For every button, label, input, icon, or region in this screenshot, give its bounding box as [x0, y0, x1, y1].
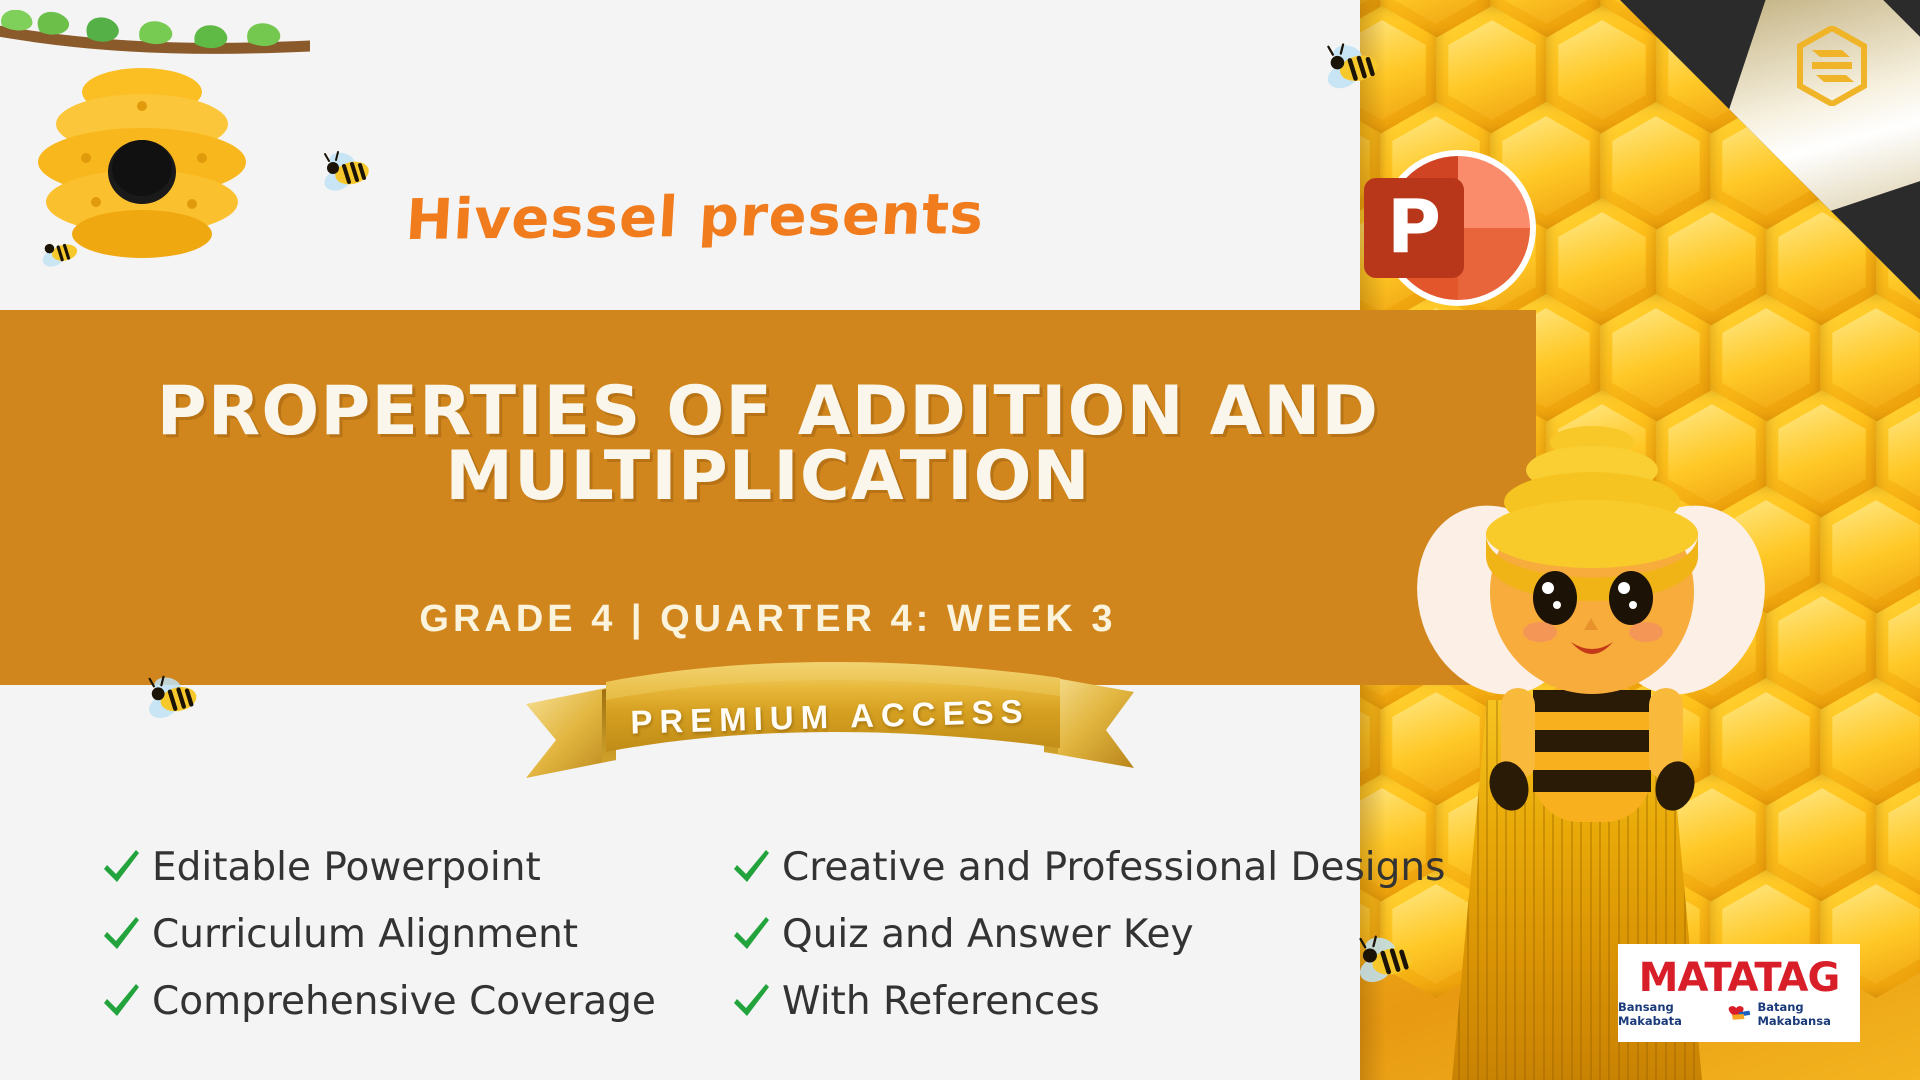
bee-mascot-icon	[1405, 330, 1775, 830]
features-list: Editable Powerpoint Curriculum Alignment…	[100, 845, 1480, 1024]
check-icon	[730, 847, 772, 889]
check-icon	[730, 914, 772, 956]
bee-icon	[316, 148, 374, 194]
poster-canvas: P Hivessel presents PROPERTIES OF ADDITI…	[0, 0, 1920, 1080]
feature-label: Creative and Professional Designs	[782, 845, 1445, 890]
matatag-wordmark: MATATAG	[1639, 958, 1840, 998]
matatag-tagline-right: Batang Makabansa	[1757, 1000, 1860, 1028]
bee-icon	[36, 232, 82, 270]
powerpoint-letter: P	[1387, 184, 1441, 270]
page-subtitle: GRADE 4 | QUARTER 4: WEEK 3	[0, 598, 1536, 641]
feature-label: Comprehensive Coverage	[152, 979, 656, 1024]
feature-item: Editable Powerpoint	[100, 845, 660, 890]
feature-label: Curriculum Alignment	[152, 912, 578, 957]
matatag-tagline-left: Bansang Makabata	[1618, 1000, 1721, 1028]
feature-item: Comprehensive Coverage	[100, 979, 660, 1024]
bee-icon	[1318, 40, 1384, 92]
brand-presents-label: Hivessel presents	[404, 182, 986, 253]
brand-presents-text: Hivessel presents	[0, 178, 1392, 258]
bee-icon	[140, 672, 202, 722]
page-title: PROPERTIES OF ADDITION AND MULTIPLICATIO…	[0, 380, 1536, 509]
check-icon	[730, 981, 772, 1023]
feature-label: With References	[782, 979, 1100, 1024]
feature-label: Quiz and Answer Key	[782, 912, 1194, 957]
premium-ribbon: PREMIUM ACCESS	[520, 652, 1140, 787]
feature-item: Quiz and Answer Key	[730, 912, 1445, 957]
feature-item: With References	[730, 979, 1445, 1024]
features-column-right: Creative and Professional Designs Quiz a…	[730, 845, 1445, 1024]
feature-item: Curriculum Alignment	[100, 912, 660, 957]
heart-hands-icon	[1727, 1003, 1752, 1025]
matatag-tagline: Bansang Makabata Batang Makabansa	[1618, 1000, 1860, 1028]
check-icon	[100, 914, 142, 956]
feature-label: Editable Powerpoint	[152, 845, 541, 890]
hivessel-hex-logo	[1796, 26, 1868, 106]
check-icon	[100, 981, 142, 1023]
ribbon-shape	[520, 652, 1140, 787]
feature-item: Creative and Professional Designs	[730, 845, 1445, 890]
features-column-left: Editable Powerpoint Curriculum Alignment…	[100, 845, 660, 1024]
matatag-logo: MATATAG Bansang Makabata Batang Makabans…	[1618, 944, 1860, 1042]
bee-icon	[1350, 932, 1418, 986]
check-icon	[100, 847, 142, 889]
